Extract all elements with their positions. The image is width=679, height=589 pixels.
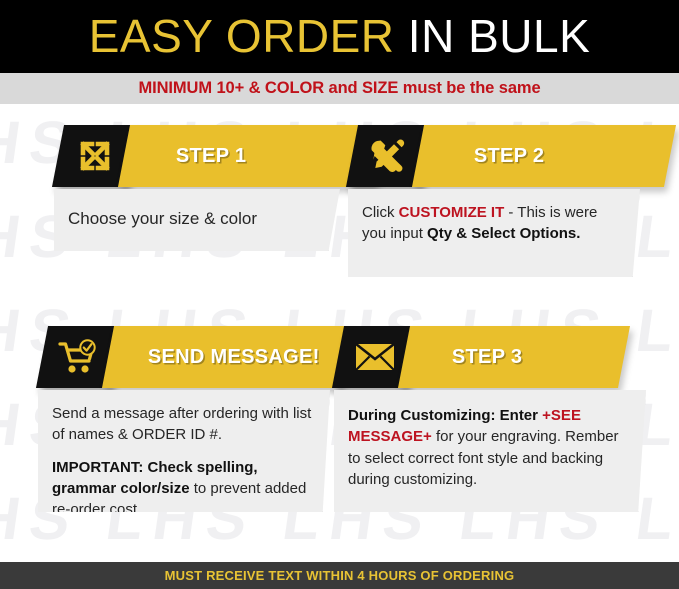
step-label-box: STEP 3 xyxy=(398,326,630,388)
step-card-header: STEP 1 xyxy=(58,125,340,187)
text-run: Choose your size & color xyxy=(68,209,257,228)
step-body: Choose your size & color xyxy=(54,189,340,251)
text-run: Click xyxy=(362,204,399,221)
step-card-step3: STEP 3 During Customizing: Enter +SEE ME… xyxy=(338,326,646,512)
page-title-white: IN BULK xyxy=(395,10,591,62)
text-run-emphasis: CUSTOMIZE IT xyxy=(399,204,505,221)
step-body: Send a message after ordering with list … xyxy=(38,390,330,512)
step-label: SEND MESSAGE! xyxy=(148,346,320,369)
step-card-send-message: SEND MESSAGE! Send a message after order… xyxy=(42,326,330,512)
page-title: EASY ORDER IN BULK xyxy=(89,0,591,73)
text-run: Send a message after ordering with list … xyxy=(52,405,311,443)
step-card-step1: STEP 1 Choose your size & color xyxy=(58,125,340,251)
step-body-text: During Customizing: Enter +SEE MESSAGE+ … xyxy=(334,390,646,503)
footer-text: MUST RECEIVE TEXT WITHIN 4 HOURS OF ORDE… xyxy=(165,568,515,583)
step-body: Click CUSTOMIZE IT - This is were you in… xyxy=(348,189,640,277)
step-body-line: Click CUSTOMIZE IT - This is were you in… xyxy=(362,202,624,245)
step-body-line: During Customizing: Enter +SEE MESSAGE+ … xyxy=(348,405,630,490)
step-body-text: Choose your size & color xyxy=(54,189,340,244)
step-body-text: Click CUSTOMIZE IT - This is were you in… xyxy=(348,189,640,258)
step-label: STEP 3 xyxy=(452,346,522,369)
step-label: STEP 2 xyxy=(474,145,544,168)
step-label-box: STEP 2 xyxy=(412,125,676,187)
steps-grid: STEP 1 Choose your size & color xyxy=(0,104,679,556)
step-body-line: Send a message after ordering with list … xyxy=(52,403,314,446)
step-label: STEP 1 xyxy=(176,145,246,168)
subtitle-text: MINIMUM 10+ & COLOR and SIZE must be the… xyxy=(138,79,540,98)
step-body-line: IMPORTANT: Check spelling, grammar color… xyxy=(52,457,314,521)
text-run-bold: Qty & Select Options. xyxy=(427,225,580,242)
subtitle-banner: MINIMUM 10+ & COLOR and SIZE must be the… xyxy=(0,73,679,104)
step-body-text: Send a message after ordering with list … xyxy=(38,390,330,533)
step-card-header: SEND MESSAGE! xyxy=(42,326,330,388)
header-banner: EASY ORDER IN BULK xyxy=(0,0,679,73)
text-run-bold: During Customizing: Enter xyxy=(348,407,542,424)
step-card-header: STEP 3 xyxy=(338,326,646,388)
footer-banner: MUST RECEIVE TEXT WITHIN 4 HOURS OF ORDE… xyxy=(0,562,679,589)
step-body: During Customizing: Enter +SEE MESSAGE+ … xyxy=(334,390,646,512)
page-title-gold: EASY ORDER xyxy=(89,10,395,62)
step-body-line: Choose your size & color xyxy=(68,207,324,231)
step-card-step2: STEP 2 Click CUSTOMIZE IT - This is were… xyxy=(352,125,640,277)
step-card-header: STEP 2 xyxy=(352,125,640,187)
step-label-box: SEND MESSAGE! xyxy=(102,326,352,388)
